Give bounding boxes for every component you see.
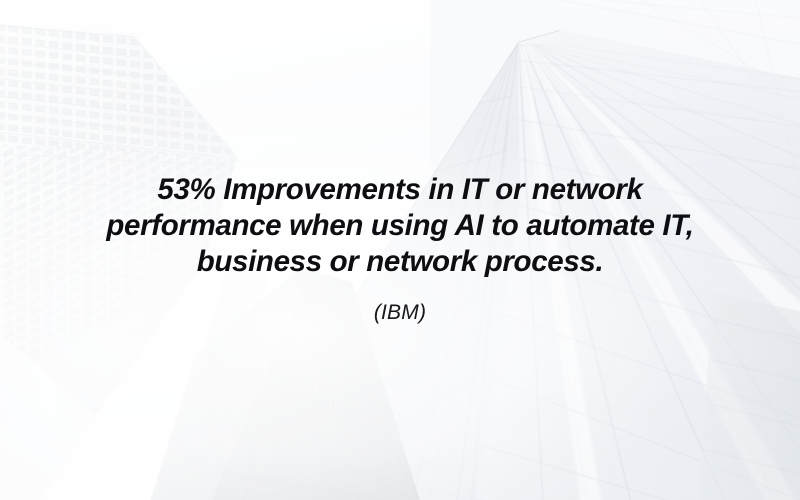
quote-card: 53% Improvements in IT or network perfor…	[0, 0, 800, 500]
headline-text: 53% Improvements in IT or network perfor…	[50, 172, 750, 280]
text-overlay: 53% Improvements in IT or network perfor…	[0, 0, 800, 500]
source-attribution: (IBM)	[374, 301, 426, 325]
